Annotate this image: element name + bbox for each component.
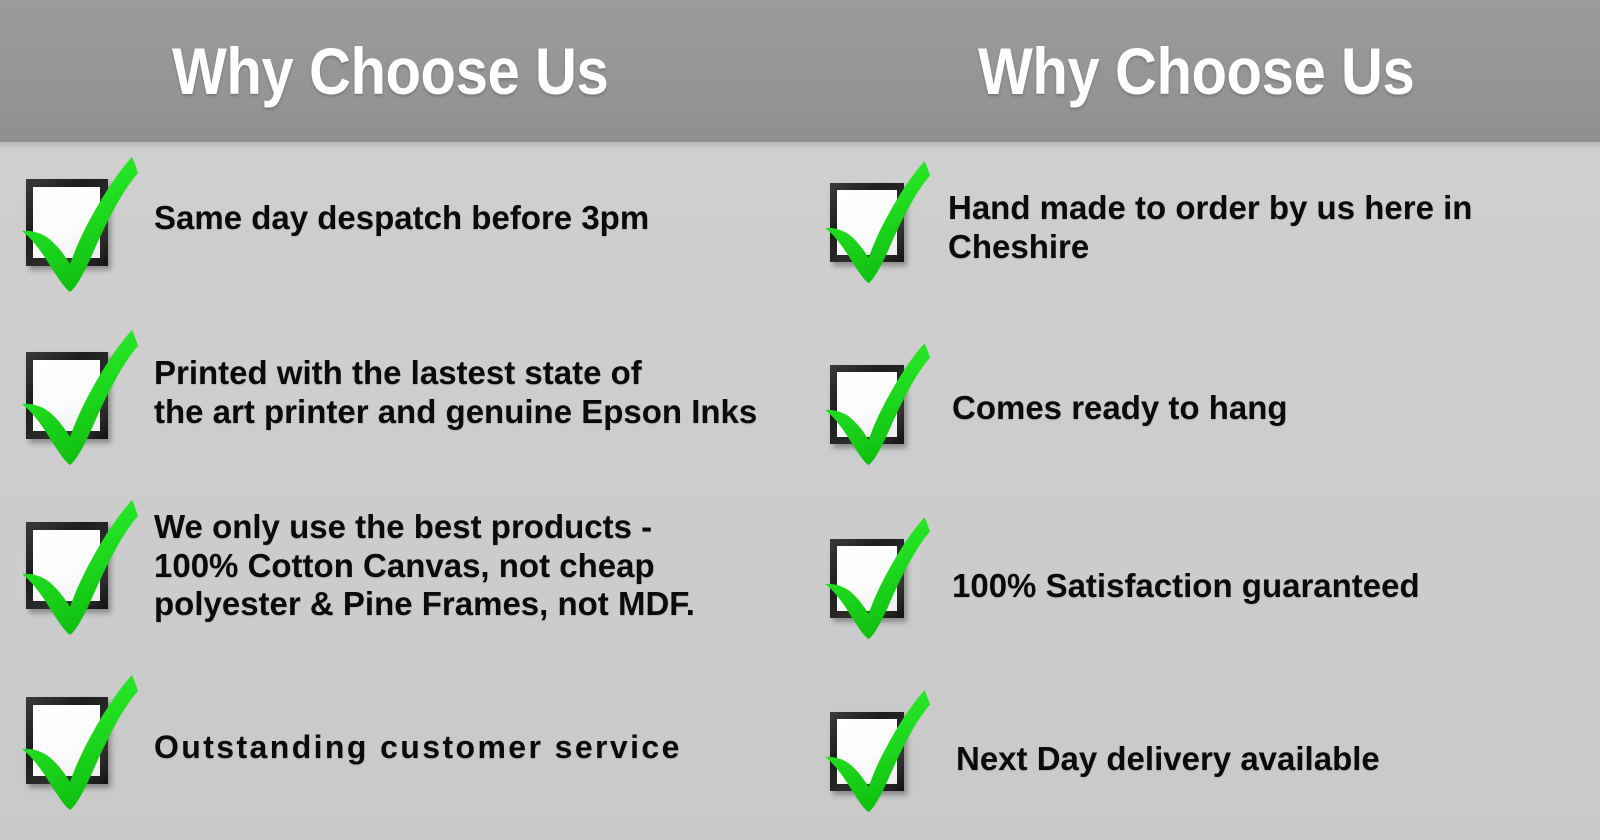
feature-label: Comes ready to hang: [952, 389, 1288, 428]
green-check-mark-icon: [14, 494, 138, 634]
green-check-mark-icon: [818, 337, 930, 465]
header-divider: [0, 142, 1600, 149]
feature-label: We only use the best products - 100% Cot…: [154, 508, 695, 624]
header-cell-left: Why Choose Us: [0, 0, 800, 142]
check-mark-glyph: [14, 494, 138, 634]
why-choose-us-banner: Why Choose Us Why Choose Us: [0, 0, 1600, 840]
green-check-mark-icon: [818, 511, 930, 639]
page-title-left: Why Choose Us: [172, 38, 608, 104]
check-mark-glyph: [818, 155, 930, 283]
feature-item: 100% Satisfaction guaranteed: [818, 511, 1598, 639]
left-column: Same day despatch before 3pm Printed wit…: [0, 149, 800, 840]
green-check-mark-icon: [14, 324, 138, 464]
green-check-mark-icon: [14, 669, 138, 809]
feature-label: Outstanding customer service: [154, 729, 682, 766]
header-cell-right: Why Choose Us: [800, 0, 1600, 142]
feature-label: Next Day delivery available: [956, 740, 1380, 779]
green-check-mark-icon: [14, 151, 138, 291]
check-mark-glyph: [818, 511, 930, 639]
feature-label: Same day despatch before 3pm: [154, 199, 649, 238]
feature-item: Comes ready to hang: [818, 337, 1598, 465]
feature-item: Next Day delivery available: [818, 684, 1598, 812]
feature-label: Hand made to order by us here in Cheshir…: [948, 189, 1472, 266]
right-column: Hand made to order by us here in Cheshir…: [800, 149, 1600, 840]
feature-item: Outstanding customer service: [14, 669, 794, 809]
feature-columns: Same day despatch before 3pm Printed wit…: [0, 149, 1600, 840]
feature-item: Same day despatch before 3pm: [14, 151, 794, 291]
header-band: Why Choose Us Why Choose Us: [0, 0, 1600, 142]
feature-item: Hand made to order by us here in Cheshir…: [818, 155, 1598, 283]
feature-label: Printed with the lastest state of the ar…: [154, 354, 757, 431]
green-check-mark-icon: [818, 155, 930, 283]
feature-item: We only use the best products - 100% Cot…: [14, 494, 794, 634]
page-title-right: Why Choose Us: [978, 38, 1414, 104]
check-mark-glyph: [14, 151, 138, 291]
check-mark-glyph: [818, 337, 930, 465]
check-mark-glyph: [818, 684, 930, 812]
check-mark-glyph: [14, 324, 138, 464]
green-check-mark-icon: [818, 684, 930, 812]
feature-label: 100% Satisfaction guaranteed: [952, 567, 1420, 606]
check-mark-glyph: [14, 669, 138, 809]
feature-item: Printed with the lastest state of the ar…: [14, 324, 794, 464]
